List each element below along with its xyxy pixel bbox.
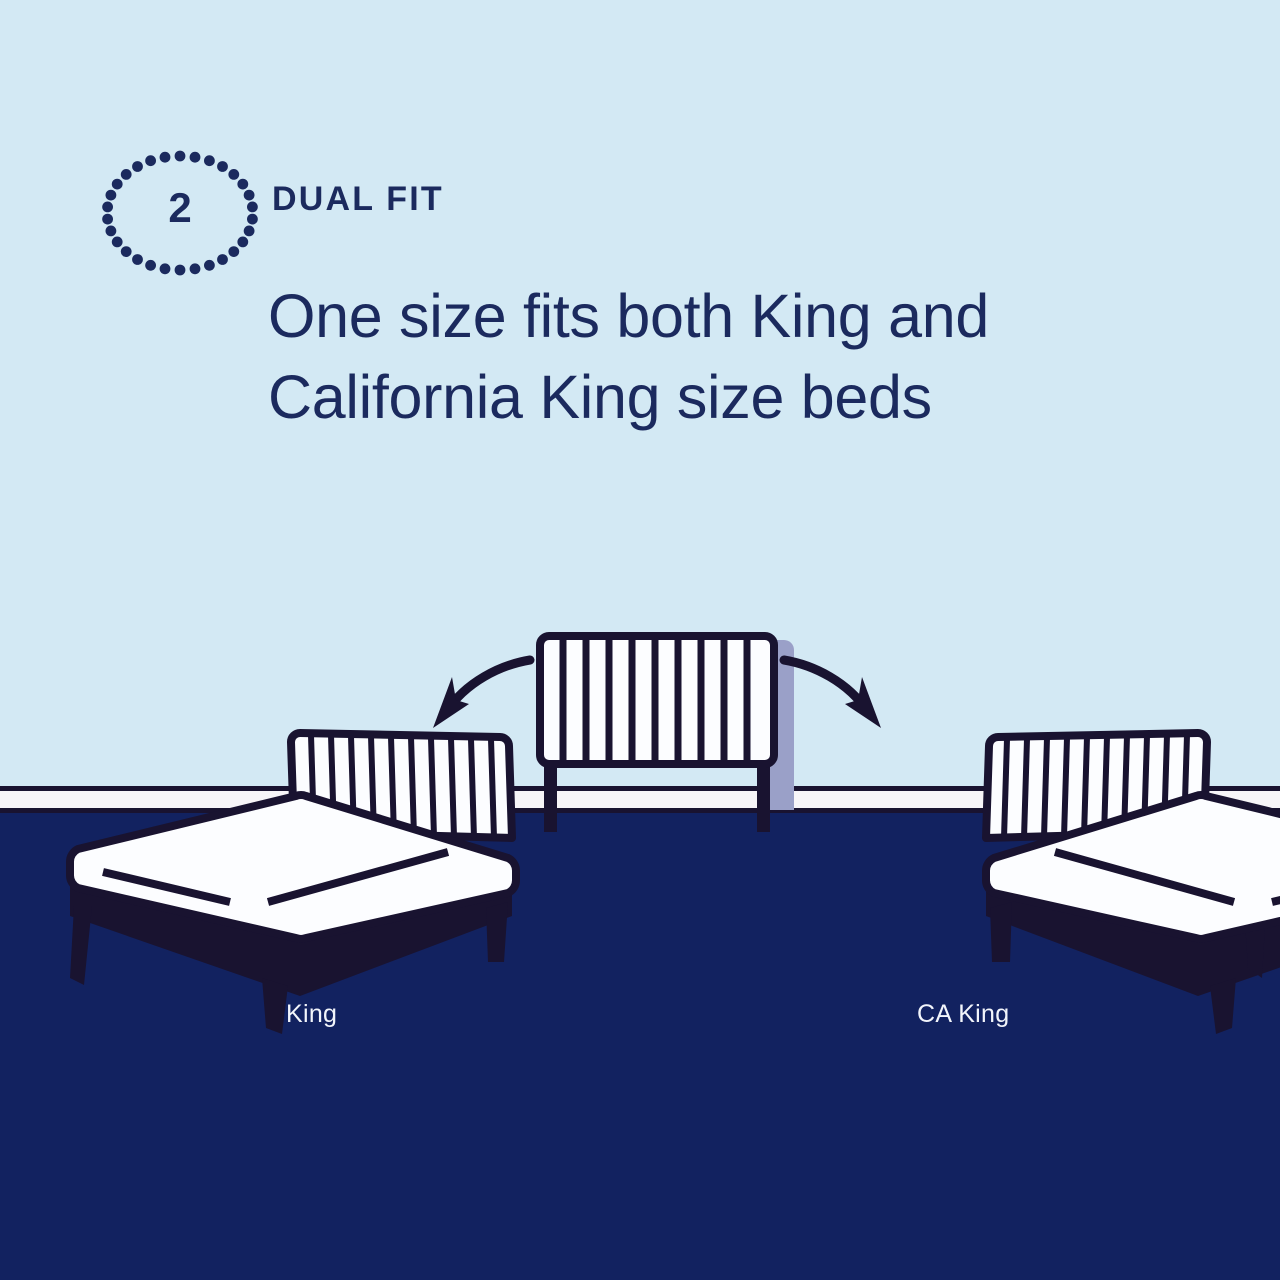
- step-number: 2: [128, 156, 232, 260]
- headline-line-1: One size fits both King and: [268, 276, 989, 357]
- step-badge: 2: [128, 156, 232, 260]
- headline-line-2: California King size beds: [268, 357, 989, 438]
- text-overlay: 2 DUAL FIT One size fits both King and C…: [0, 0, 1280, 1280]
- king-bed-label: King: [286, 1000, 337, 1029]
- ca-king-bed-label: CA King: [917, 1000, 1009, 1029]
- poster-canvas: 2 DUAL FIT One size fits both King and C…: [0, 0, 1280, 1280]
- feature-eyebrow-label: DUAL FIT: [272, 181, 444, 218]
- headline: One size fits both King and California K…: [268, 276, 989, 437]
